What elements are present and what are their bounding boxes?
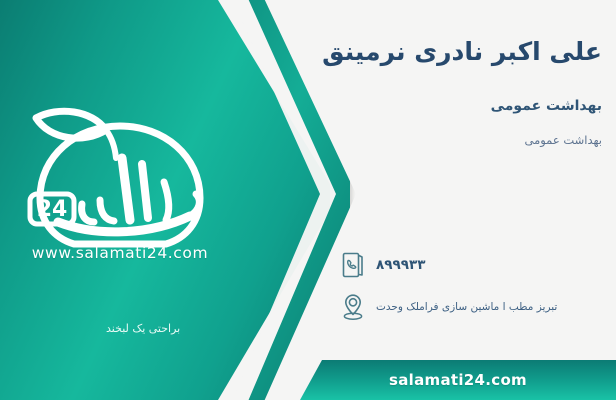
address-row[interactable]: تبریز مطب ا ماشین سازی فراملک وحدت — [340, 292, 604, 322]
phone-row[interactable]: ۸۹۹۹۳۳ — [340, 250, 604, 280]
footer-site-label[interactable]: salamati24.com — [300, 360, 616, 400]
doctor-name: علی اکبر نادری نرمینق — [340, 36, 602, 67]
doctor-specialty-primary: بهداشت عمومی — [340, 98, 602, 114]
card-content: علی اکبر نادری نرمینق بهداشت عمومی بهداش… — [330, 0, 616, 400]
phone-number: ۸۹۹۹۳۳ — [376, 257, 425, 273]
footer-bar: salamati24.com — [300, 360, 616, 400]
address-text: تبریز مطب ا ماشین سازی فراملک وحدت — [376, 301, 557, 313]
map-pin-icon — [340, 292, 366, 322]
doctor-specialty-secondary: بهداشت عمومی — [340, 133, 602, 147]
doctor-profile-card: 24 براحتی یک لبخند www.salamati24.com عل… — [0, 0, 616, 400]
phone-book-icon — [340, 250, 366, 280]
